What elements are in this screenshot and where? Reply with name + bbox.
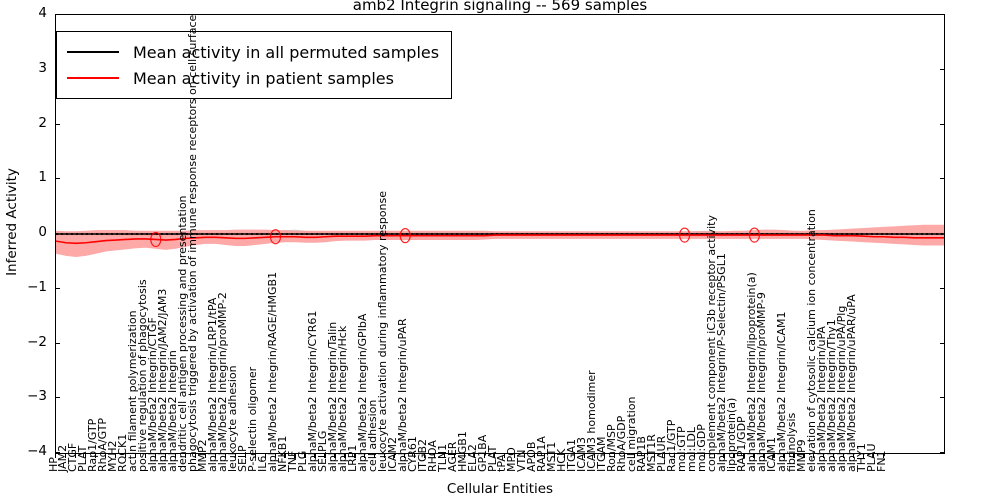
x-tick-label: alphaM/beta2 Integrin/P-Selectin/PSGL1: [716, 253, 727, 472]
y-tick-label: 1: [3, 171, 47, 185]
legend-entry-patient: Mean activity in patient samples: [67, 65, 439, 91]
legend-swatch-permuted: [67, 51, 119, 53]
y-tick-label: 0: [3, 226, 47, 240]
x-tick-label: leukocyte activation during inflammatory…: [377, 191, 388, 472]
y-tick-label: 4: [3, 7, 47, 21]
x-axis-tick-labels: HPJAM2CTGFPLATRap1/GTPRhoA/GTPMYH2ROCK1a…: [55, 0, 945, 500]
legend-swatch-patient: [67, 77, 119, 79]
legend-entry-permuted: Mean activity in all permuted samples: [67, 39, 439, 65]
y-tick-label: −4: [3, 445, 47, 459]
legend-label-patient: Mean activity in patient samples: [133, 69, 394, 88]
y-tick-label: −1: [3, 281, 47, 295]
y-tick-label: −2: [3, 336, 47, 350]
legend-label-permuted: Mean activity in all permuted samples: [133, 43, 439, 62]
chart-legend: Mean activity in all permuted samples Me…: [56, 31, 452, 99]
x-tick-label: elevation of cytosolic calcium ion conce…: [806, 209, 817, 472]
x-tick-label: FN1: [876, 450, 887, 472]
y-tick-label: −3: [3, 390, 47, 404]
y-tick-label: 3: [3, 62, 47, 76]
x-tick-label: positive regulation of phagocytosis: [137, 279, 148, 472]
x-tick-label: phagocytosis triggered by activation of …: [187, 15, 198, 472]
y-tick-label: 2: [3, 117, 47, 131]
x-tick-label: alphaM/beta2 Integrin/lipoprotein(a): [746, 272, 757, 472]
x-axis-title: Cellular Entities: [55, 481, 945, 497]
